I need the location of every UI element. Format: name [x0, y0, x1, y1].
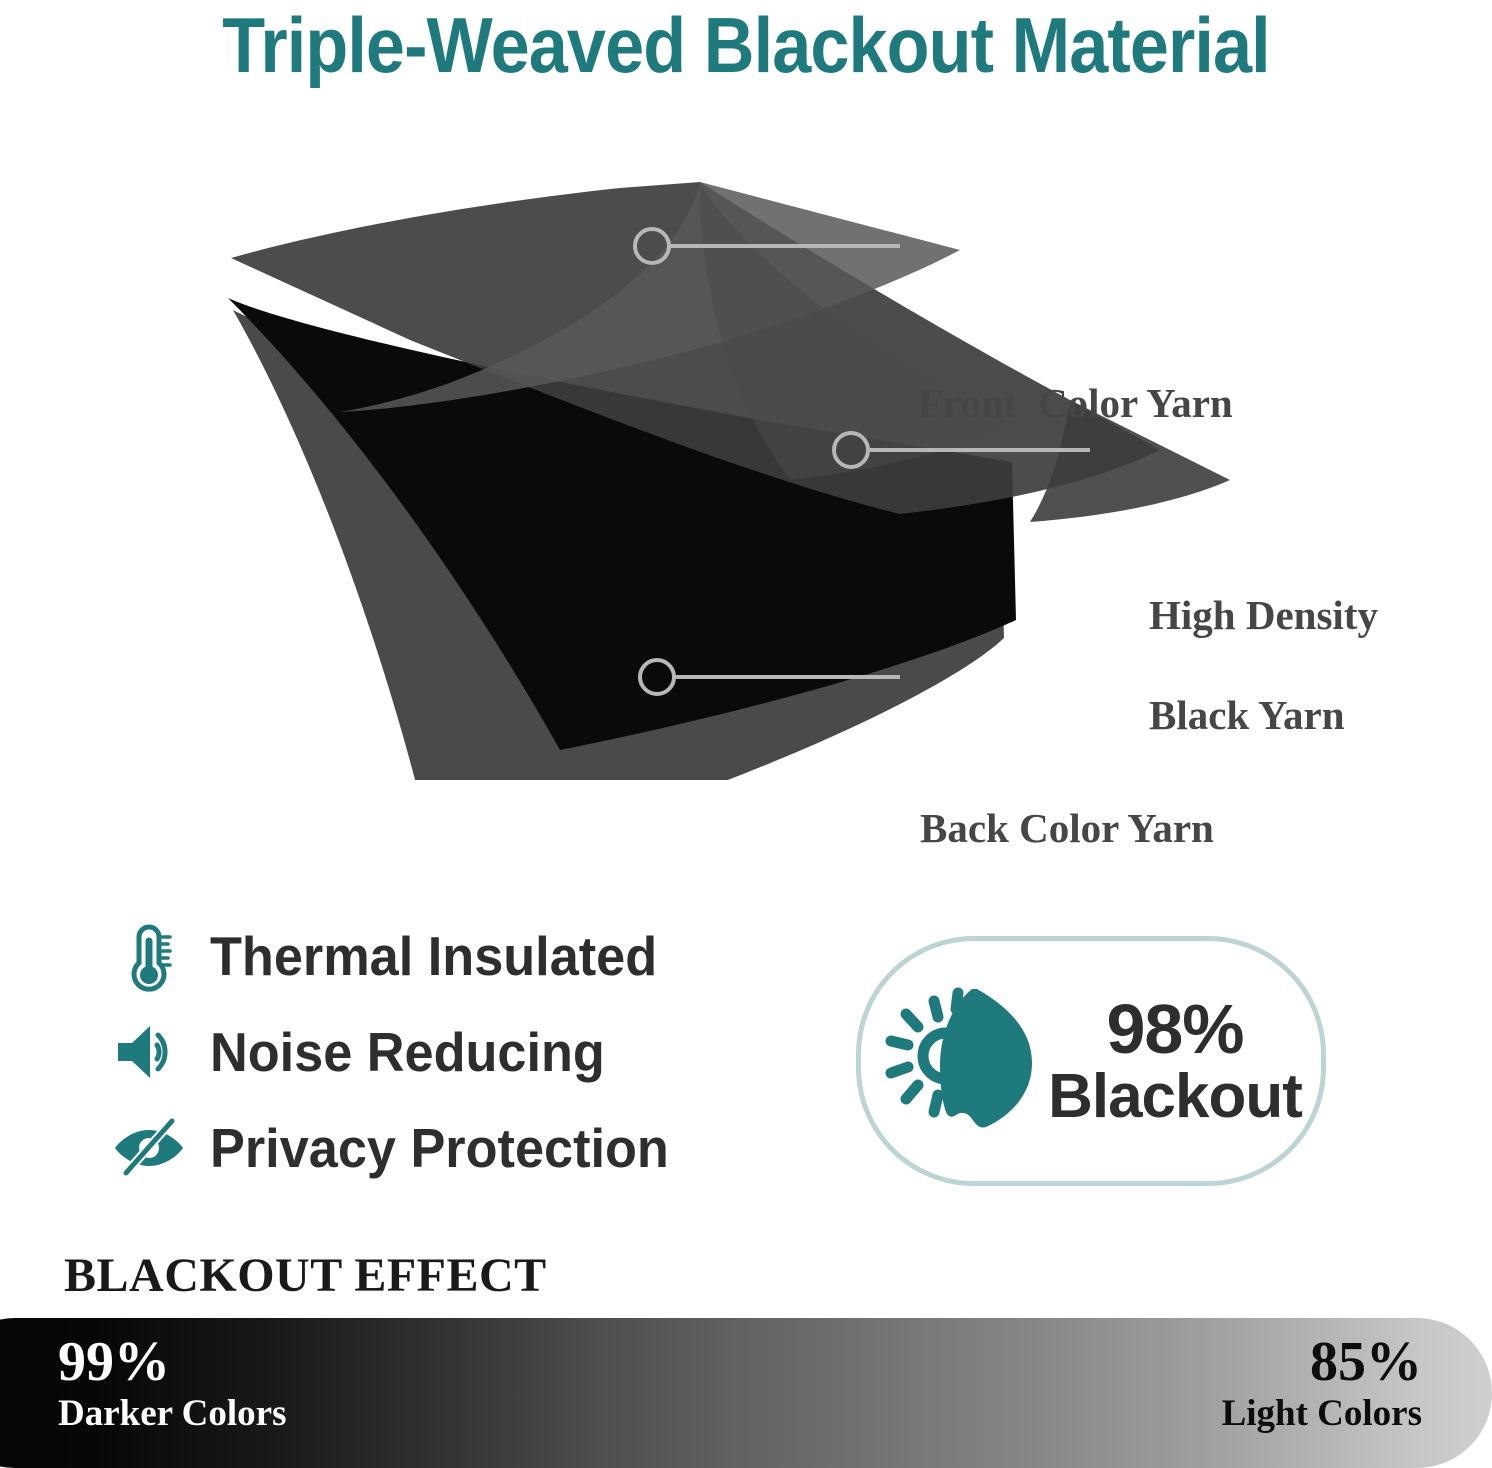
fabric-layer-diagram: Front Color Yarn High Density Black Yarn…: [0, 150, 1492, 780]
blackout-percent: 98%: [1048, 994, 1302, 1065]
eye-off-icon: [112, 1111, 186, 1185]
feature-item-privacy-protection: Privacy Protection: [112, 1100, 812, 1196]
effect-left-percent: 99%: [58, 1332, 286, 1392]
feature-item-thermal-insulated: Thermal Insulated: [112, 908, 812, 1004]
page-title: Triple-Weaved Blackout Material: [75, 2, 1418, 88]
diagram-label-high-density-black-yarn: High Density Black Yarn: [1108, 540, 1378, 790]
feature-label: Noise Reducing: [210, 1022, 605, 1082]
effect-right-stat: 85% Light Colors: [1222, 1332, 1422, 1436]
effect-right-percent: 85%: [1222, 1332, 1422, 1392]
effect-left-stat: 99% Darker Colors: [58, 1332, 286, 1436]
diagram-label-front-color-yarn: Front Color Yarn: [918, 378, 1233, 428]
blackout-badge: 98% Blackout: [856, 936, 1326, 1186]
blackout-word: Blackout: [1048, 1065, 1302, 1128]
diagram-label-back-color-yarn: Back Color Yarn: [920, 803, 1214, 853]
effect-left-sublabel: Darker Colors: [58, 1392, 286, 1436]
feature-label: Thermal Insulated: [210, 926, 657, 986]
feature-list: Thermal Insulated Noise Reducing Privacy…: [112, 908, 812, 1196]
feature-label: Privacy Protection: [210, 1118, 669, 1178]
sun-blocked-icon: [880, 981, 1040, 1141]
blackout-effect-gradient-bar: 99% Darker Colors 85% Light Colors: [0, 1318, 1492, 1468]
effect-right-sublabel: Light Colors: [1222, 1392, 1422, 1436]
diagram-label-line-2: Black Yarn: [1149, 692, 1345, 738]
blackout-badge-text: 98% Blackout: [1048, 994, 1302, 1129]
feature-item-noise-reducing: Noise Reducing: [112, 1004, 812, 1100]
thermometer-icon: [112, 919, 186, 993]
speaker-volume-icon: [112, 1015, 186, 1089]
blackout-effect-heading: BLACKOUT EFFECT: [64, 1248, 547, 1304]
diagram-label-line-1: High Density: [1149, 592, 1378, 638]
